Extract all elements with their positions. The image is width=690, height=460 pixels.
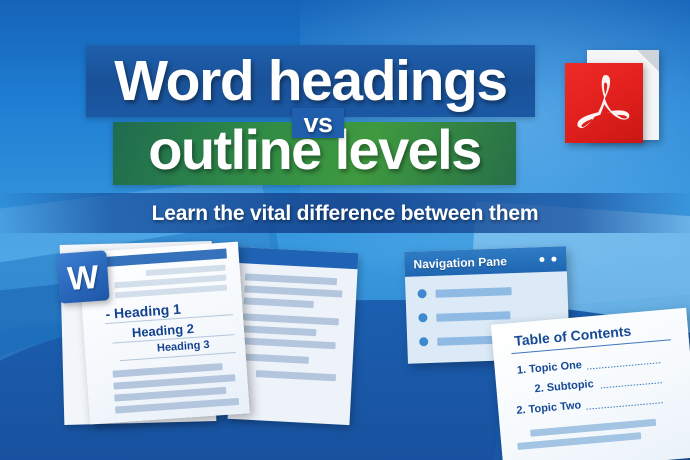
pdf-red-square [565,63,643,143]
word-badge-icon: W [56,250,109,303]
body-line [244,297,314,308]
nav-item-bar[interactable] [435,287,511,298]
body-line [245,273,337,285]
table-of-contents-card: Table of Contents 1. Topic One 2. Subtop… [491,308,690,460]
poster-canvas: Word headings outline levels vs Learn th… [0,0,690,460]
acrobat-a-glyph [576,71,632,133]
body-line [256,370,336,381]
vs-label: vs [292,108,344,138]
bullet-icon [419,337,428,346]
bullet-icon [418,313,427,322]
pdf-acrobat-icon [565,50,669,156]
toc-leader-dots [601,382,663,388]
title-banner-primary: Word headings [86,45,535,117]
toc-entry: 2. Subtopic [534,378,594,395]
navigation-pane-title: Navigation Pane [413,248,507,277]
toc-leader-dots [587,402,665,410]
toc-leader-dots [587,362,661,369]
body-line [241,353,309,364]
body-line [243,313,339,325]
heading-rule [120,352,236,361]
toc-entry: 2. Topic Two [516,399,582,417]
navigation-pane-titlebar: Navigation Pane [404,246,567,277]
window-control-dot-icon[interactable] [539,257,544,262]
toc-entry: 1. Topic One [516,359,582,377]
word-letter: W [56,250,109,303]
subtitle-bar: Learn the vital difference between them [0,193,690,233]
body-line [242,325,316,336]
body-line [244,285,342,297]
doc-heading-3: Heading 3 [157,339,210,355]
body-line [241,337,335,349]
subtitle-text: Learn the vital difference between them [0,193,690,233]
vs-badge: vs [292,108,344,138]
window-control-dot-icon[interactable] [551,257,556,262]
bullet-icon [417,289,426,298]
nav-item-bar[interactable] [436,311,510,322]
nav-item-bar[interactable] [437,336,493,346]
